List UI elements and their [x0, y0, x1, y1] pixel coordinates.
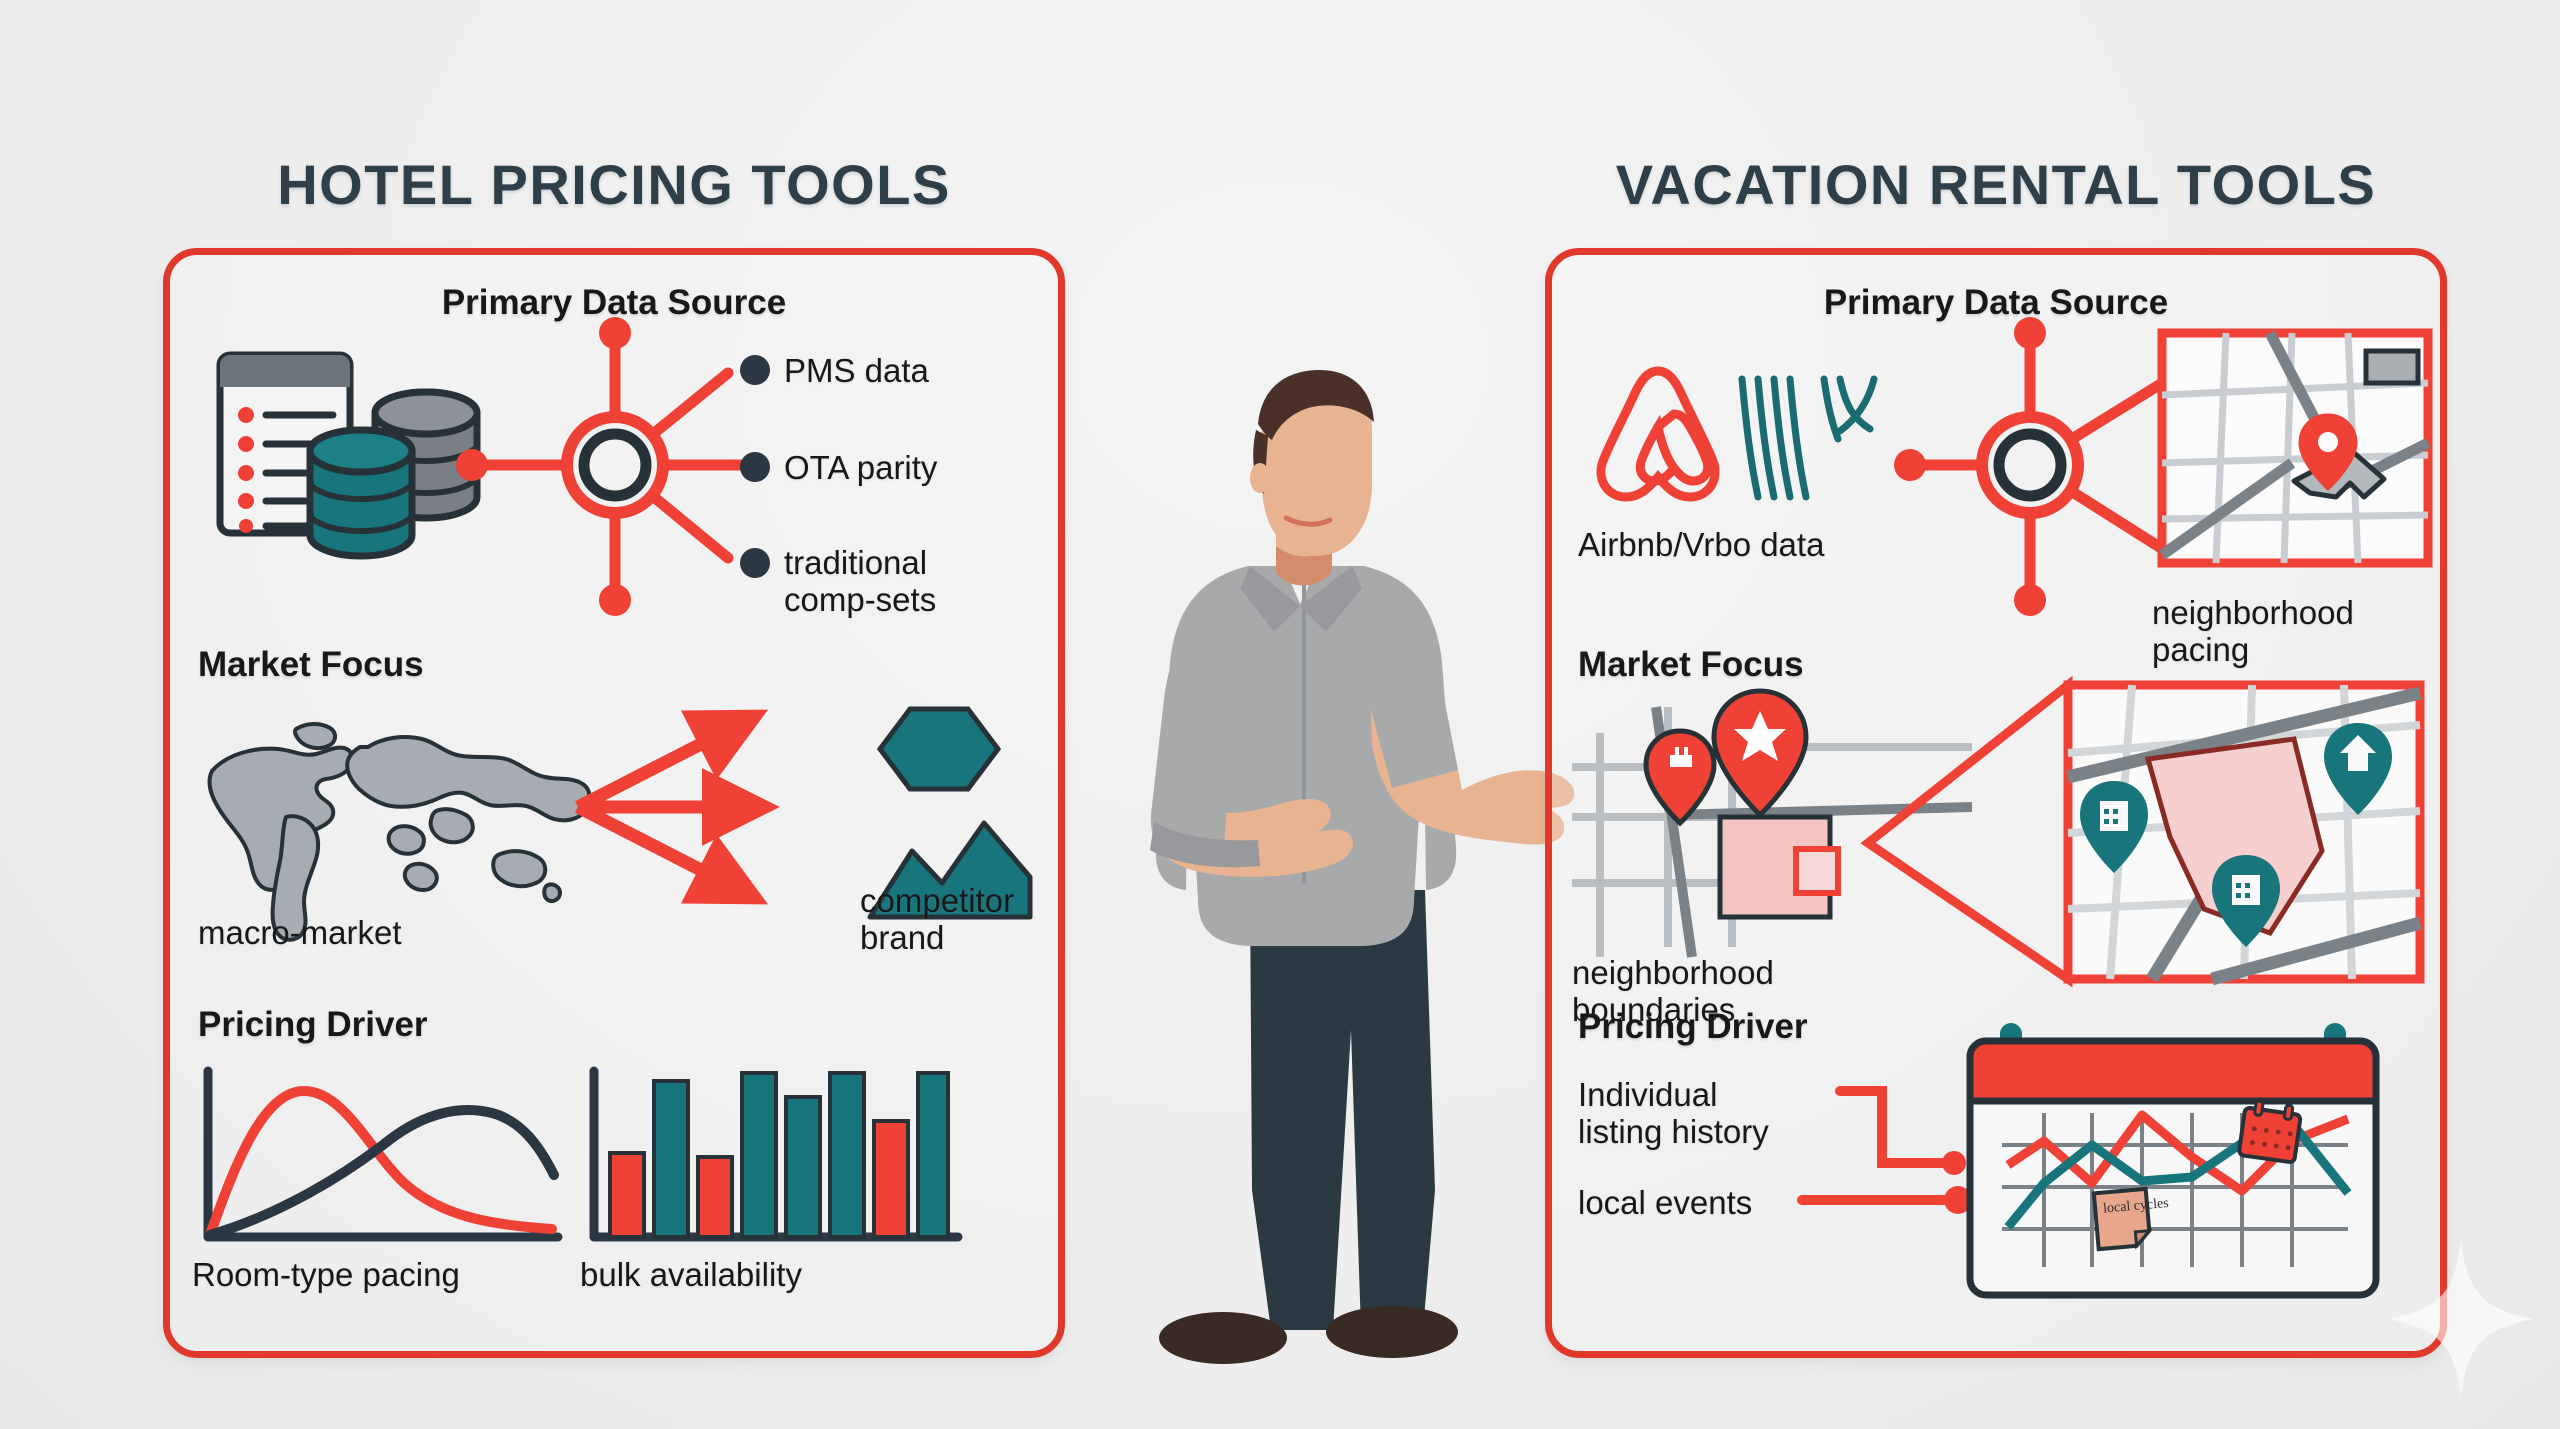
- infographic-canvas: HOTEL PRICING TOOLS VACATION RENTAL TOOL…: [0, 0, 2560, 1429]
- bullet-dot-icon: [740, 452, 770, 482]
- caption-room-type-pacing: Room-type pacing: [192, 1257, 460, 1294]
- caption-bulk-availability: bulk availability: [580, 1257, 802, 1294]
- callout-individual-listing-history: Individual listing history: [1578, 1077, 1769, 1151]
- section-heading-market-focus: Market Focus: [198, 645, 424, 685]
- hub-node-icon: [1882, 315, 2182, 615]
- section-heading-pricing-driver: Pricing Driver: [1578, 1007, 1808, 1047]
- page-title-hotel: HOTEL PRICING TOOLS: [163, 152, 1065, 217]
- hub-node-icon: [450, 315, 780, 615]
- panel-hotel-pricing-tools: Primary Data Source: [163, 248, 1065, 1358]
- map-zoom-callout-icon: [1852, 673, 2432, 993]
- panel-vacation-rental-tools: Primary Data Source Airbnb/Vrbo data: [1545, 248, 2447, 1358]
- caption-macro-market: macro-market: [198, 915, 402, 952]
- section-heading-pricing-driver: Pricing Driver: [198, 1005, 428, 1045]
- bullet-label-pms-data: PMS data: [784, 353, 929, 390]
- section-heading-market-focus: Market Focus: [1578, 645, 1804, 685]
- caption-neighborhood-pacing: neighborhood pacing: [2152, 595, 2440, 669]
- map-callout-icon: [2152, 323, 2442, 583]
- bullet-dot-icon: [740, 548, 770, 578]
- bullet-dot-icon: [740, 355, 770, 385]
- callout-local-events: local events: [1578, 1185, 1752, 1222]
- bullet-label-ota-parity: OTA parity: [784, 450, 937, 487]
- calendar-chart-icon: local cycles: [1952, 1015, 2412, 1315]
- vrbo-logo-icon: [1728, 373, 1888, 513]
- bar-chart-bulk-availability: [580, 1065, 970, 1255]
- page-title-vacation-rental: VACATION RENTAL TOOLS: [1545, 152, 2447, 217]
- caption-competitor-brand: competitor brand: [860, 883, 1014, 957]
- market-focus-arrows: [570, 707, 870, 907]
- world-map-icon: [198, 705, 618, 920]
- airbnb-logo-icon: [1578, 363, 1738, 513]
- presenter-illustration: [1090, 370, 1590, 1370]
- line-chart-room-type-pacing: [192, 1065, 572, 1255]
- caption-airbnb-vrbo-data: Airbnb/Vrbo data: [1578, 527, 1824, 564]
- bullet-label-traditional-comp-sets: traditional comp-sets: [784, 545, 936, 619]
